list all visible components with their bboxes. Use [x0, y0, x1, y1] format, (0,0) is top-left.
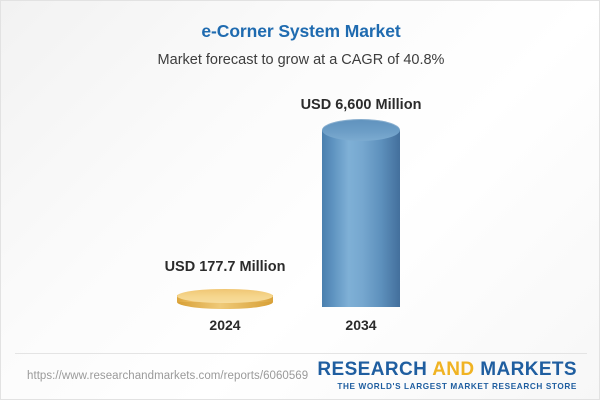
logo-word-and: AND [432, 359, 474, 380]
chart-title: e-Corner System Market [1, 21, 600, 42]
value-label-2024: USD 177.7 Million [125, 259, 325, 275]
logo-wordmark: RESEARCH AND MARKETS [317, 360, 577, 379]
footer-divider [15, 353, 587, 354]
category-label-2024: 2024 [165, 317, 285, 333]
report-url[interactable]: https://www.researchandmarkets.com/repor… [27, 370, 308, 382]
category-label-2034: 2034 [301, 317, 421, 333]
market-infographic: e-Corner System Market Market forecast t… [0, 0, 600, 400]
bar-2024-top-ellipse [177, 289, 273, 303]
logo-word-research: RESEARCH [317, 359, 427, 380]
chart-subtitle: Market forecast to grow at a CAGR of 40.… [1, 52, 600, 68]
bar-2034-top-ellipse [322, 119, 400, 141]
bar-2034-body [322, 130, 400, 307]
logo-word-markets: MARKETS [480, 359, 577, 380]
chart-plot-area: USD 177.7 Million USD 6,600 Million 2024… [1, 79, 600, 351]
value-label-2034: USD 6,600 Million [261, 97, 461, 113]
bar-2024[interactable] [177, 289, 273, 309]
bar-2034[interactable] [322, 119, 400, 307]
research-and-markets-logo[interactable]: RESEARCH AND MARKETS THE WORLD'S LARGEST… [317, 360, 577, 391]
logo-tagline: THE WORLD'S LARGEST MARKET RESEARCH STOR… [317, 383, 577, 391]
